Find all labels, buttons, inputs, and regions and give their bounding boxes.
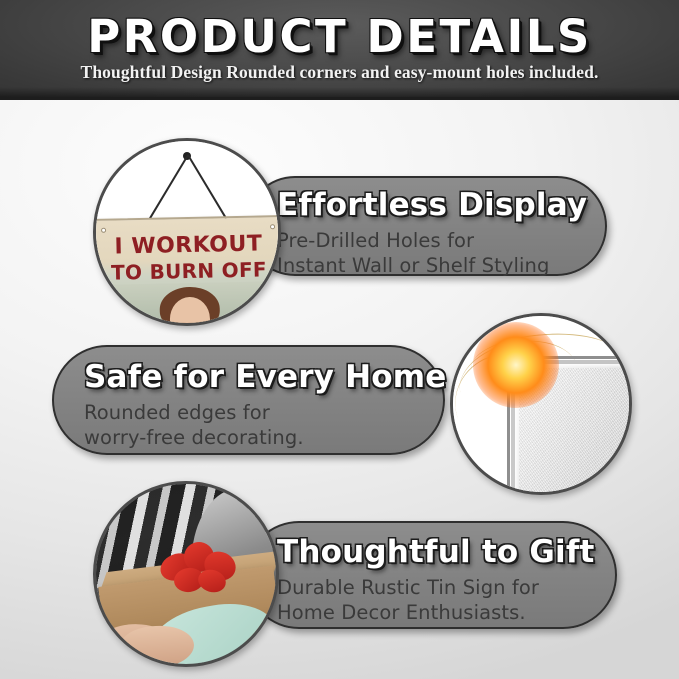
feature-pill-effortless-display: Effortless Display Pre-Drilled Holes for…: [245, 176, 607, 276]
feature-body-line2: worry-free decorating.: [84, 426, 304, 449]
feature-body-line2: Instant Wall or Shelf Styling: [277, 254, 549, 277]
infographic-canvas: PRODUCT DETAILS Thoughtful Design Rounde…: [0, 0, 679, 679]
red-ribbon-bow-icon: [158, 540, 238, 592]
feature-body-safe-for-every-home: Rounded edges for worry-free decorating.: [84, 400, 446, 451]
feature-title-thoughtful-to-gift: Thoughtful to Gift: [277, 536, 595, 569]
feature-pill-safe-for-every-home: Safe for Every Home Rounded edges for wo…: [52, 345, 445, 455]
boxing-glove-left-icon: [111, 306, 142, 326]
feature-body-thoughtful-to-gift: Durable Rustic Tin Sign for Home Decor E…: [277, 575, 595, 626]
gift-box-handover-photo: [93, 481, 279, 667]
page-subtitle: Thoughtful Design Rounded corners and ea…: [0, 62, 679, 83]
feature-body-effortless-display: Pre-Drilled Holes for Instant Wall or Sh…: [277, 228, 587, 279]
page-title: PRODUCT DETAILS: [0, 10, 679, 63]
corner-glow-highlight-icon: [473, 322, 559, 408]
feature-body-line1: Durable Rustic Tin Sign for: [277, 576, 539, 599]
feature-body-line2: Home Decor Enthusiasts.: [277, 601, 526, 624]
rounded-corner-closeup-photo: [450, 313, 632, 495]
feature-title-safe-for-every-home: Safe for Every Home: [84, 361, 446, 394]
sign-hole-right-icon: [270, 224, 275, 229]
sign-hole-left-icon: [101, 228, 106, 233]
tin-sign-plate: I WORKOUT TO BURN OFF THE: [93, 215, 281, 326]
hanging-tin-sign-photo: I WORKOUT TO BURN OFF THE: [93, 138, 281, 326]
sign-text-line1: I WORKOUT: [93, 231, 281, 260]
feature-pill-thoughtful-to-gift: Thoughtful to Gift Durable Rustic Tin Si…: [245, 521, 617, 629]
header-banner: PRODUCT DETAILS Thoughtful Design Rounde…: [0, 0, 679, 100]
boxing-glove-right-icon: [239, 303, 270, 326]
feature-title-effortless-display: Effortless Display: [277, 189, 587, 222]
feature-body-line1: Rounded edges for: [84, 401, 270, 424]
feature-body-line1: Pre-Drilled Holes for: [277, 229, 474, 252]
sign-illustration: [94, 281, 281, 326]
